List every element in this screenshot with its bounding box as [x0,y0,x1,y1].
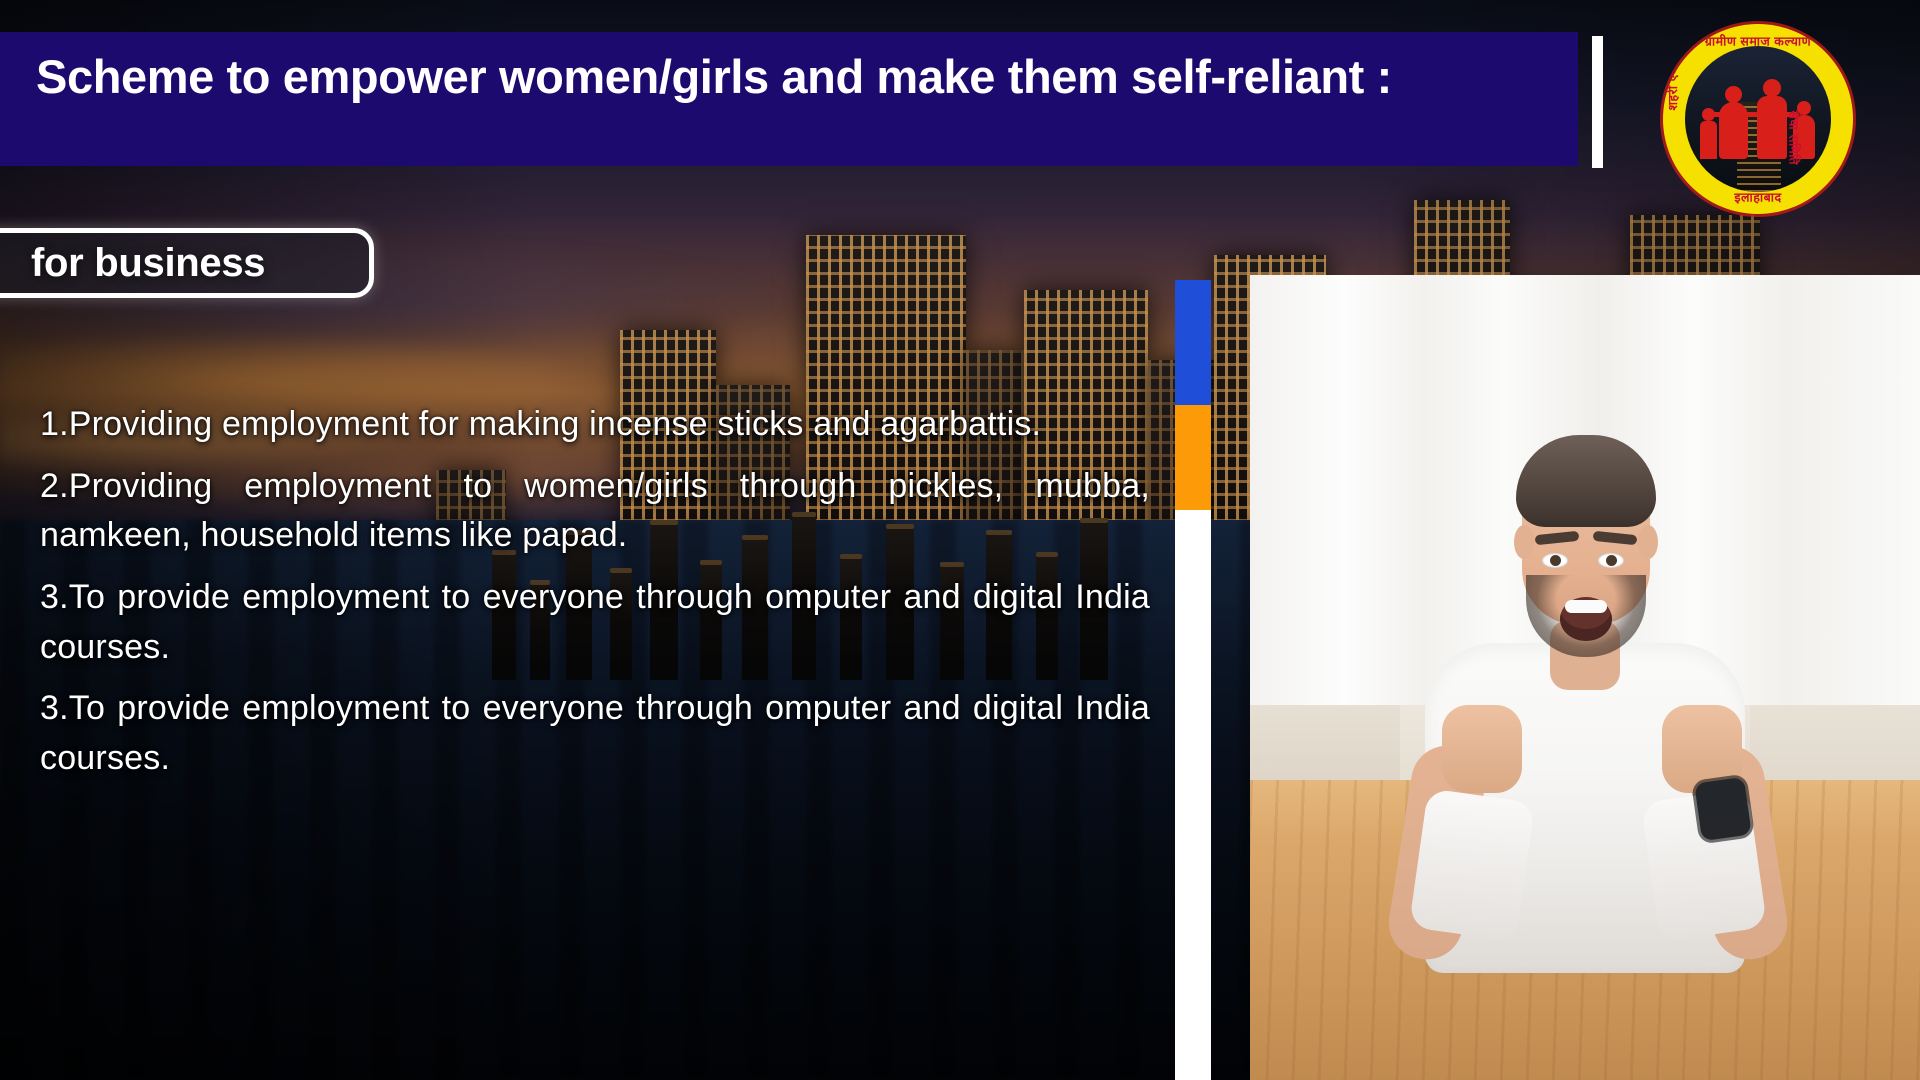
list-item: 1.Providing employment for making incens… [40,400,1150,450]
title-banner: Scheme to empower women/girls and make t… [0,32,1578,166]
logo-ring-text: ग्रामीण समाज कल्याण शहरी एवं सेवा समिति … [1663,24,1853,214]
for-business-badge: for business [0,228,374,298]
logo-ring-text-bottom: इलाहाबाद [1734,189,1781,206]
logo-ring-text-right: सेवा समिति [1786,111,1803,166]
poster-canvas: Scheme to empower women/girls and make t… [0,0,1920,1080]
scheme-points-list: 1.Providing employment for making incens… [40,400,1150,783]
list-item: 3.To provide employment to everyone thro… [40,573,1150,672]
accent-bar-orange [1175,405,1211,510]
logo-ring-text-left: शहरी एवं [1664,67,1681,111]
photo-man-eye [1598,553,1624,568]
photo-man-ear [1514,525,1534,559]
accent-bar-group [1175,280,1211,1080]
photo-man-eye [1542,553,1568,568]
photo-man-open-mouth [1560,597,1612,641]
logo-ring-text-top: ग्रामीण समाज कल्याण [1705,33,1811,50]
photo-man-shirt-sleeve [1409,788,1535,942]
photo-man-ear [1638,525,1658,559]
accent-bar-blue [1175,280,1211,405]
title-banner-white-edge [1592,36,1603,168]
organization-logo: ग्रामीण समाज कल्याण शहरी एवं सेवा समिति … [1663,24,1853,214]
for-business-label: for business [31,241,265,286]
celebrating-man-photo [1250,275,1920,1080]
list-item: 3.To provide employment to everyone thro… [40,684,1150,783]
photo-man-fist [1442,705,1522,793]
accent-bar-white [1175,510,1211,1080]
list-item: 2.Providing employment to women/girls th… [40,462,1150,561]
page-title: Scheme to empower women/girls and make t… [36,46,1546,109]
photo-smartwatch [1694,777,1752,841]
